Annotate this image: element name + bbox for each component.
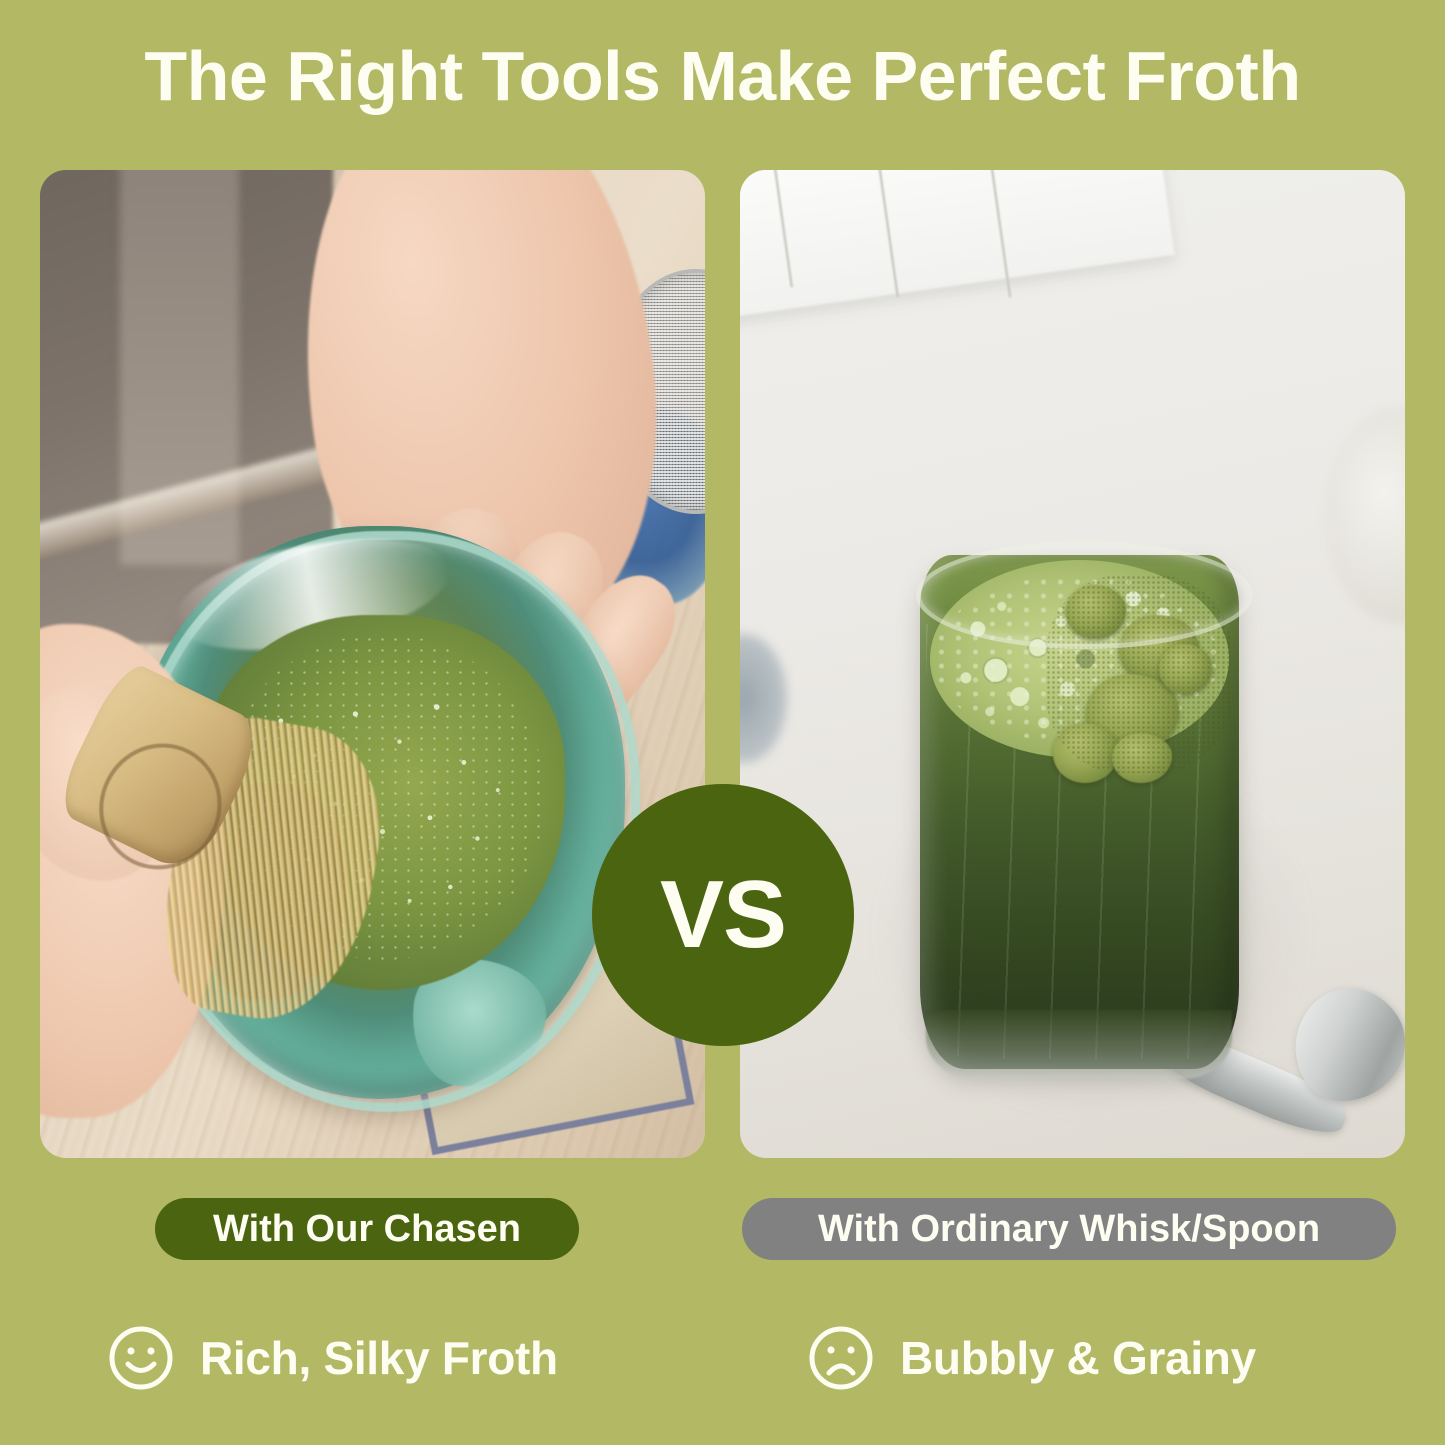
glass-base bbox=[926, 1010, 1232, 1079]
right-result-label: Bubbly & Grainy bbox=[900, 1331, 1256, 1385]
left-result-row: Rich, Silky Froth bbox=[108, 1312, 558, 1404]
smiley-face-icon bbox=[108, 1325, 174, 1391]
page-title: The Right Tools Make Perfect Froth bbox=[0, 34, 1445, 118]
glass-rim bbox=[916, 541, 1253, 650]
vs-badge: VS bbox=[592, 784, 854, 1046]
comparison-infographic: The Right Tools Make Perfect Froth 茶 の 湯 bbox=[0, 0, 1445, 1445]
ordinary-whisk-photo bbox=[740, 170, 1405, 1158]
left-badge-with-our-chasen: With Our Chasen bbox=[155, 1198, 579, 1260]
right-result-row: Bubbly & Grainy bbox=[808, 1312, 1256, 1404]
chasen-photo: 茶 の 湯 bbox=[40, 170, 705, 1158]
right-badge-with-ordinary-whisk: With Ordinary Whisk/Spoon bbox=[742, 1198, 1396, 1260]
frowning-face-icon bbox=[808, 1325, 874, 1391]
left-result-label: Rich, Silky Froth bbox=[200, 1331, 558, 1385]
left-comparison-panel: 茶 の 湯 bbox=[40, 170, 705, 1158]
right-comparison-panel bbox=[740, 170, 1405, 1158]
